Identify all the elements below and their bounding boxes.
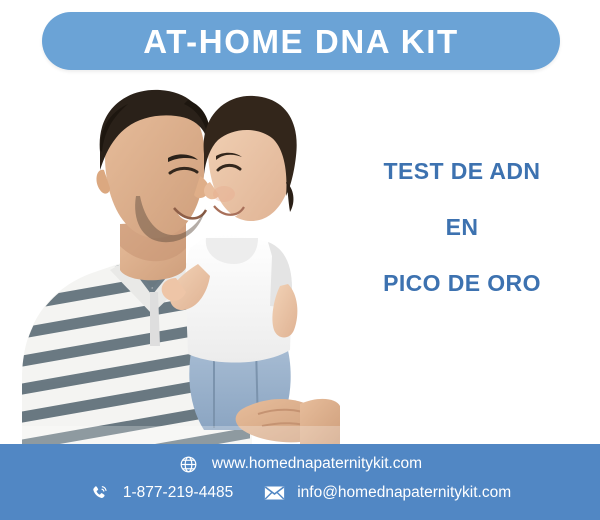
header-badge-title: AT-HOME DNA KIT (143, 25, 458, 58)
footer-row-website: www.homednapaternitykit.com (0, 453, 600, 475)
footer-row-contact: 1-877-219-4485 info@homednapaternitykit.… (0, 482, 600, 504)
globe-icon (178, 453, 200, 475)
family-photo (0, 78, 340, 444)
footer-contact-bar: www.homednapaternitykit.com 1-877-219-44… (0, 444, 600, 520)
headline-line-2: EN (330, 216, 594, 239)
footer-phone-text: 1-877-219-4485 (123, 485, 233, 501)
headline-block: TEST DE ADN EN PICO DE ORO (330, 160, 594, 295)
phone-icon (89, 482, 111, 504)
family-photo-illustration (0, 78, 340, 444)
headline-line-1: TEST DE ADN (330, 160, 594, 183)
header-badge: AT-HOME DNA KIT (42, 12, 560, 70)
footer-item-phone[interactable]: 1-877-219-4485 (89, 482, 233, 504)
footer-item-email[interactable]: info@homednapaternitykit.com (263, 482, 511, 504)
footer-website-text: www.homednapaternitykit.com (212, 456, 422, 472)
envelope-icon (263, 482, 285, 504)
footer-item-website[interactable]: www.homednapaternitykit.com (178, 453, 422, 475)
footer-email-text: info@homednapaternitykit.com (297, 485, 511, 501)
dna-kit-promo-card: AT-HOME DNA KIT (0, 0, 600, 520)
headline-line-3: PICO DE ORO (330, 272, 594, 295)
